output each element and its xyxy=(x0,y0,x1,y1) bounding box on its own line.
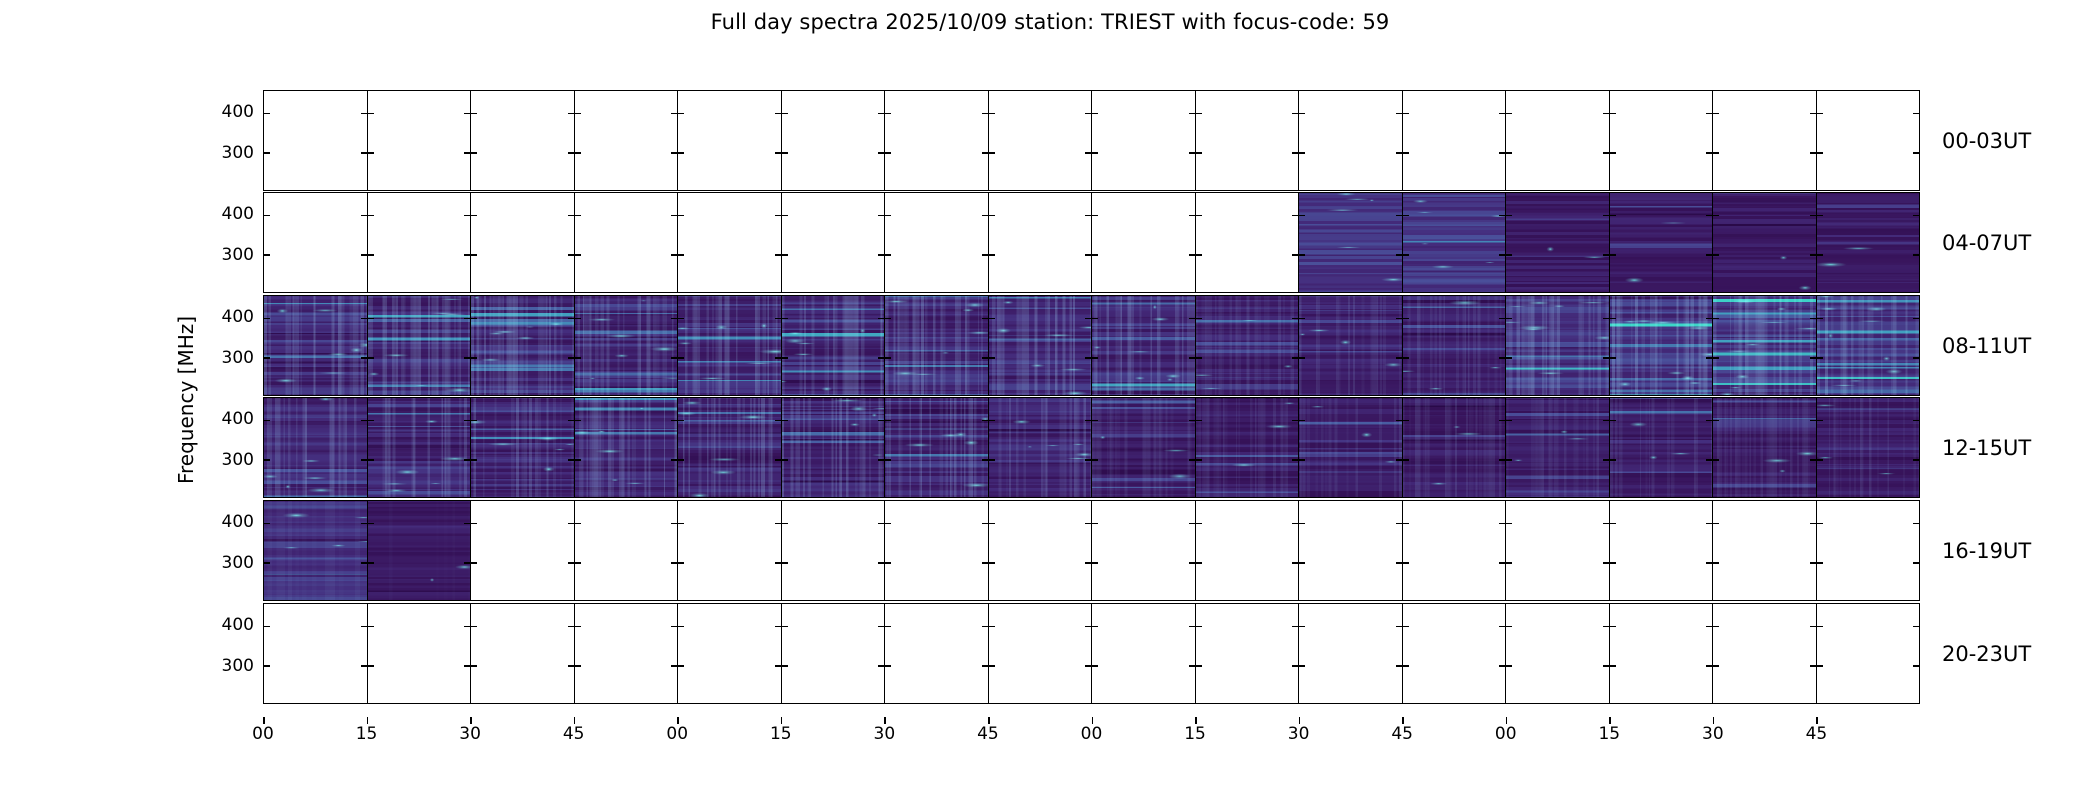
y-tick-mark xyxy=(989,152,995,154)
y-tick-mark xyxy=(1913,626,1919,628)
y-tick-mark xyxy=(1403,665,1409,667)
y-tick-mark xyxy=(1189,562,1195,564)
y-tick-mark xyxy=(982,523,988,525)
spectrogram-cell[interactable] xyxy=(1299,296,1403,395)
spectrogram-cell[interactable] xyxy=(1092,501,1196,600)
spectrogram-cell[interactable] xyxy=(1713,398,1817,497)
y-tick-mark xyxy=(568,523,574,525)
y-tick-mark xyxy=(1610,665,1616,667)
spectrogram-cell[interactable] xyxy=(264,193,368,292)
spectrogram-cell[interactable] xyxy=(1196,604,1300,703)
y-tick-mark xyxy=(1713,523,1719,525)
spectrogram-cell[interactable] xyxy=(1610,501,1714,600)
spectrogram-cell[interactable] xyxy=(1092,193,1196,292)
y-axis-label: Frequency [MHz] xyxy=(174,316,198,484)
spectrogram-cell[interactable] xyxy=(1403,296,1507,395)
y-tick-mark xyxy=(1499,254,1505,256)
row-panel-group xyxy=(263,295,1920,396)
y-tick-mark xyxy=(1085,665,1091,667)
y-tick-mark xyxy=(368,318,374,320)
y-tick-mark xyxy=(1092,665,1098,667)
y-tick-mark xyxy=(982,562,988,564)
y-tick-mark xyxy=(264,357,270,359)
spectrogram-cell[interactable] xyxy=(1299,91,1403,190)
spectrogram-cell[interactable] xyxy=(678,604,782,703)
y-tick-mark xyxy=(989,318,995,320)
spectrogram-cell[interactable] xyxy=(1817,604,1920,703)
spectrogram-cell[interactable] xyxy=(575,193,679,292)
y-tick-mark xyxy=(1603,626,1609,628)
spectrogram-cell[interactable] xyxy=(885,398,989,497)
spectrogram-cell-image xyxy=(885,296,988,395)
y-tick-mark xyxy=(782,215,788,217)
x-tick-label: 30 xyxy=(1702,724,1724,744)
y-tick-mark xyxy=(982,318,988,320)
x-tick-label: 30 xyxy=(874,724,896,744)
spectrogram-cell-image xyxy=(782,398,885,497)
y-tick-label: 300 xyxy=(222,143,254,163)
y-tick-mark xyxy=(775,318,781,320)
spectrogram-cell[interactable] xyxy=(1299,501,1403,600)
spectrogram-cell[interactable] xyxy=(1610,193,1714,292)
spectrogram-cell[interactable] xyxy=(1092,296,1196,395)
x-tick-mark xyxy=(574,717,576,724)
spectrogram-cell[interactable] xyxy=(782,296,886,395)
spectrogram-cell-image xyxy=(678,296,781,395)
y-tick-label: 400 xyxy=(222,102,254,122)
spectrogram-cell[interactable] xyxy=(368,296,472,395)
spectrogram-cell-image xyxy=(1403,193,1506,292)
row-time-label: 12-15UT xyxy=(1942,436,2031,460)
y-tick-mark xyxy=(678,523,684,525)
y-tick-mark xyxy=(1603,420,1609,422)
y-tick-mark xyxy=(775,357,781,359)
y-tick-mark xyxy=(1396,626,1402,628)
y-tick-mark xyxy=(989,626,995,628)
spectrogram-cell[interactable] xyxy=(1506,193,1610,292)
y-tick-mark xyxy=(1092,626,1098,628)
x-tick-mark xyxy=(677,717,679,724)
y-tick-mark xyxy=(1603,459,1609,461)
y-tick-mark xyxy=(1706,420,1712,422)
y-tick-mark xyxy=(782,113,788,115)
x-tick-mark xyxy=(781,717,783,724)
spectrogram-cell[interactable] xyxy=(1506,91,1610,190)
spectrogram-cell-image xyxy=(264,296,367,395)
y-tick-mark xyxy=(885,523,891,525)
y-tick-mark xyxy=(782,523,788,525)
row-panel-group xyxy=(263,603,1920,704)
y-tick-mark xyxy=(264,523,270,525)
y-tick-mark xyxy=(982,215,988,217)
y-tick-mark xyxy=(464,420,470,422)
y-tick-mark xyxy=(1299,523,1305,525)
y-tick-label-group: 400300 xyxy=(196,90,254,191)
spectrogram-cell[interactable] xyxy=(368,91,472,190)
spectrogram-cell[interactable] xyxy=(1092,91,1196,190)
spectrogram-cell[interactable] xyxy=(1713,193,1817,292)
y-tick-mark xyxy=(782,626,788,628)
y-tick-mark xyxy=(878,318,884,320)
y-tick-mark xyxy=(1506,665,1512,667)
y-tick-mark xyxy=(1913,152,1919,154)
x-tick-label: 45 xyxy=(563,724,585,744)
spectrogram-cell[interactable] xyxy=(885,296,989,395)
spectrogram-cell[interactable] xyxy=(1506,604,1610,703)
spectrogram-cell[interactable] xyxy=(989,501,1093,600)
y-tick-mark xyxy=(982,459,988,461)
spectrogram-cell[interactable] xyxy=(1713,91,1817,190)
y-tick-mark xyxy=(1196,357,1202,359)
spectrogram-cell[interactable] xyxy=(575,398,679,497)
y-tick-mark xyxy=(1292,523,1298,525)
spectrogram-cell-image xyxy=(1299,296,1402,395)
spectrogram-cell[interactable] xyxy=(368,398,472,497)
y-tick-mark xyxy=(1403,318,1409,320)
spectrogram-cell[interactable] xyxy=(575,604,679,703)
y-tick-mark xyxy=(1706,152,1712,154)
spectrogram-cell[interactable] xyxy=(1299,398,1403,497)
y-tick-mark xyxy=(264,215,270,217)
x-tick-mark xyxy=(1195,717,1197,724)
y-tick-mark xyxy=(568,420,574,422)
y-tick-mark xyxy=(678,562,684,564)
y-tick-mark xyxy=(678,626,684,628)
spectrogram-cell[interactable] xyxy=(471,193,575,292)
spectrogram-cell[interactable] xyxy=(1299,604,1403,703)
spectrogram-cell[interactable] xyxy=(1403,604,1507,703)
spectrogram-cell[interactable] xyxy=(678,398,782,497)
y-tick-mark xyxy=(1092,523,1098,525)
y-tick-mark xyxy=(678,665,684,667)
spectrogram-cell[interactable] xyxy=(1610,604,1714,703)
spectrogram-cell[interactable] xyxy=(1299,193,1403,292)
spectrogram-cell[interactable] xyxy=(368,604,472,703)
y-tick-mark xyxy=(1610,215,1616,217)
y-tick-mark xyxy=(1603,357,1609,359)
y-tick-mark xyxy=(1913,459,1919,461)
y-tick-mark xyxy=(1713,626,1719,628)
y-tick-mark xyxy=(1299,420,1305,422)
y-tick-mark xyxy=(1396,665,1402,667)
y-tick-mark xyxy=(575,523,581,525)
spectrogram-cell[interactable] xyxy=(885,501,989,600)
y-tick-mark xyxy=(878,562,884,564)
y-tick-mark xyxy=(982,626,988,628)
spectrogram-cell[interactable] xyxy=(1817,398,1920,497)
spectrogram-cell[interactable] xyxy=(1196,296,1300,395)
y-tick-mark xyxy=(878,357,884,359)
spectrogram-cell[interactable] xyxy=(264,296,368,395)
y-tick-label: 300 xyxy=(222,450,254,470)
y-tick-mark xyxy=(1913,113,1919,115)
spectrogram-cell-image xyxy=(678,398,781,497)
y-tick-mark xyxy=(671,215,677,217)
y-tick-mark xyxy=(885,113,891,115)
y-tick-mark xyxy=(671,523,677,525)
y-tick-mark xyxy=(471,215,477,217)
y-tick-mark xyxy=(1196,562,1202,564)
y-tick-mark xyxy=(1085,626,1091,628)
x-axis-ticks: 00153045001530450015304500153045 xyxy=(263,724,1920,754)
spectrogram-cell[interactable] xyxy=(1817,501,1920,600)
spectrogram-cell[interactable] xyxy=(782,193,886,292)
y-tick-mark xyxy=(1810,420,1816,422)
y-tick-mark xyxy=(575,420,581,422)
y-tick-mark xyxy=(1196,420,1202,422)
spectrogram-cell[interactable] xyxy=(368,501,472,600)
y-tick-mark xyxy=(1506,152,1512,154)
spectrogram-cell[interactable] xyxy=(264,501,368,600)
y-tick-mark xyxy=(1189,318,1195,320)
spectrogram-cell[interactable] xyxy=(678,501,782,600)
y-tick-mark xyxy=(568,626,574,628)
spectrogram-cell[interactable] xyxy=(471,501,575,600)
y-tick-mark xyxy=(885,357,891,359)
y-tick-mark xyxy=(1396,459,1402,461)
y-tick-mark xyxy=(1499,152,1505,154)
spectrogram-cell[interactable] xyxy=(575,91,679,190)
y-tick-mark xyxy=(1610,523,1616,525)
y-tick-label: 400 xyxy=(222,512,254,532)
y-tick-mark xyxy=(1396,420,1402,422)
y-tick-mark xyxy=(464,459,470,461)
y-tick-mark xyxy=(264,626,270,628)
y-tick-mark xyxy=(1706,215,1712,217)
y-tick-mark xyxy=(1085,420,1091,422)
y-tick-mark xyxy=(575,318,581,320)
y-tick-mark xyxy=(1499,523,1505,525)
spectrogram-cell[interactable] xyxy=(782,91,886,190)
y-tick-mark xyxy=(782,562,788,564)
spectrogram-cell[interactable] xyxy=(1196,193,1300,292)
y-tick-mark xyxy=(1396,215,1402,217)
y-tick-mark xyxy=(1292,665,1298,667)
figure-canvas: Full day spectra 2025/10/09 station: TRI… xyxy=(0,0,2100,800)
y-tick-label-group: 400300 xyxy=(196,500,254,601)
spectrogram-cell[interactable] xyxy=(1403,193,1507,292)
spectrogram-cell-image xyxy=(1610,296,1713,395)
y-tick-mark xyxy=(1299,626,1305,628)
spectrogram-cell[interactable] xyxy=(471,296,575,395)
y-tick-mark xyxy=(368,626,374,628)
spectrogram-cell[interactable] xyxy=(989,296,1093,395)
spectrogram-cell[interactable] xyxy=(989,398,1093,497)
x-tick-label: 00 xyxy=(1081,724,1103,744)
y-tick-mark xyxy=(678,357,684,359)
y-tick-mark xyxy=(1403,152,1409,154)
spectrogram-cell[interactable] xyxy=(1610,91,1714,190)
y-tick-label: 400 xyxy=(222,615,254,635)
spectrogram-cell-image xyxy=(1092,296,1195,395)
spectrogram-cell[interactable] xyxy=(1092,398,1196,497)
spectrogram-cell[interactable] xyxy=(1817,193,1920,292)
y-tick-mark xyxy=(471,459,477,461)
y-tick-mark xyxy=(1092,113,1098,115)
y-tick-mark xyxy=(1817,420,1823,422)
y-tick-mark xyxy=(782,357,788,359)
y-tick-mark xyxy=(264,318,270,320)
y-tick-mark xyxy=(1085,113,1091,115)
y-tick-mark xyxy=(1506,215,1512,217)
spectrogram-cell[interactable] xyxy=(1817,296,1920,395)
y-tick-mark xyxy=(1189,113,1195,115)
spectrogram-cell[interactable] xyxy=(782,501,886,600)
spectrogram-cell[interactable] xyxy=(1403,91,1507,190)
y-tick-mark xyxy=(878,113,884,115)
y-tick-mark xyxy=(1085,562,1091,564)
spectrogram-cell[interactable] xyxy=(264,398,368,497)
y-tick-mark xyxy=(1092,459,1098,461)
spectrogram-cell[interactable] xyxy=(1506,501,1610,600)
y-tick-mark xyxy=(568,459,574,461)
y-tick-mark xyxy=(885,459,891,461)
spectrogram-cell[interactable] xyxy=(1610,398,1714,497)
y-tick-label: 300 xyxy=(222,245,254,265)
y-tick-mark xyxy=(1403,357,1409,359)
y-tick-mark xyxy=(671,254,677,256)
y-tick-mark xyxy=(368,152,374,154)
spectrogram-cell[interactable] xyxy=(575,296,679,395)
spectrogram-cell[interactable] xyxy=(1610,296,1714,395)
y-tick-mark xyxy=(568,357,574,359)
y-tick-mark xyxy=(1610,357,1616,359)
y-tick-mark xyxy=(1610,318,1616,320)
spectrogram-cell[interactable] xyxy=(575,501,679,600)
y-tick-mark xyxy=(361,562,367,564)
spectrogram-cell[interactable] xyxy=(1196,398,1300,497)
y-tick-mark xyxy=(1506,626,1512,628)
y-tick-mark xyxy=(1610,420,1616,422)
spectrogram-cell[interactable] xyxy=(989,193,1093,292)
y-tick-mark xyxy=(1810,357,1816,359)
spectrogram-cell[interactable] xyxy=(782,604,886,703)
spectrogram-cell-image xyxy=(1506,398,1609,497)
x-tick-label: 30 xyxy=(459,724,481,744)
y-tick-mark xyxy=(678,215,684,217)
y-tick-mark xyxy=(989,420,995,422)
spectrogram-cell[interactable] xyxy=(678,193,782,292)
row-time-label: 00-03UT xyxy=(1942,129,2031,153)
y-tick-mark xyxy=(471,113,477,115)
spectrogram-cell[interactable] xyxy=(678,91,782,190)
x-tick-label: 15 xyxy=(356,724,378,744)
spectrogram-cell[interactable] xyxy=(885,193,989,292)
y-tick-mark xyxy=(1092,254,1098,256)
y-tick-mark xyxy=(1092,215,1098,217)
y-tick-mark xyxy=(1403,459,1409,461)
y-tick-mark xyxy=(1196,318,1202,320)
spectrogram-cell[interactable] xyxy=(1817,91,1920,190)
y-tick-mark xyxy=(1713,113,1719,115)
y-tick-mark xyxy=(568,215,574,217)
x-tick-mark xyxy=(1506,717,1508,724)
y-tick-mark xyxy=(464,665,470,667)
x-tick-label: 45 xyxy=(977,724,999,744)
y-tick-mark xyxy=(1092,562,1098,564)
spectrogram-cell[interactable] xyxy=(368,193,472,292)
y-tick-mark xyxy=(1196,626,1202,628)
y-tick-mark xyxy=(368,357,374,359)
y-tick-mark xyxy=(671,459,677,461)
y-tick-mark xyxy=(471,420,477,422)
y-tick-mark xyxy=(368,113,374,115)
spectrogram-cell[interactable] xyxy=(471,91,575,190)
y-tick-mark xyxy=(1299,152,1305,154)
spectrogram-row xyxy=(263,397,1920,498)
spectrogram-cell[interactable] xyxy=(1506,296,1610,395)
spectrogram-cell[interactable] xyxy=(264,91,368,190)
spectrogram-cell[interactable] xyxy=(989,91,1093,190)
y-tick-mark xyxy=(775,215,781,217)
y-tick-mark xyxy=(1396,113,1402,115)
y-tick-mark xyxy=(1292,318,1298,320)
y-tick-label: 400 xyxy=(222,409,254,429)
spectrogram-cell[interactable] xyxy=(1713,296,1817,395)
y-tick-label-group: 400300 xyxy=(196,397,254,498)
spectrogram-cell[interactable] xyxy=(264,604,368,703)
y-tick-mark xyxy=(1499,318,1505,320)
spectrogram-cell-image xyxy=(1299,398,1402,497)
y-tick-mark xyxy=(1085,523,1091,525)
y-tick-mark xyxy=(568,113,574,115)
y-tick-mark xyxy=(471,626,477,628)
spectrogram-cell[interactable] xyxy=(885,91,989,190)
y-tick-mark xyxy=(1506,318,1512,320)
spectrogram-cell[interactable] xyxy=(885,604,989,703)
row-time-label: 20-23UT xyxy=(1942,642,2031,666)
y-tick-mark xyxy=(1706,562,1712,564)
y-tick-mark xyxy=(361,152,367,154)
spectrogram-cell[interactable] xyxy=(1713,501,1817,600)
spectrogram-cell[interactable] xyxy=(1403,501,1507,600)
y-tick-mark xyxy=(1713,665,1719,667)
spectrogram-cell[interactable] xyxy=(471,398,575,497)
y-tick-mark xyxy=(885,152,891,154)
spectrogram-cell[interactable] xyxy=(678,296,782,395)
y-tick-mark xyxy=(989,562,995,564)
x-tick-label: 00 xyxy=(252,724,274,744)
spectrogram-cell[interactable] xyxy=(471,604,575,703)
y-tick-mark xyxy=(368,665,374,667)
y-tick-mark xyxy=(1499,665,1505,667)
y-tick-mark xyxy=(1810,254,1816,256)
y-tick-mark xyxy=(1189,357,1195,359)
y-tick-mark xyxy=(989,357,995,359)
y-tick-mark xyxy=(1396,523,1402,525)
spectrogram-cell[interactable] xyxy=(1196,91,1300,190)
y-tick-mark xyxy=(1189,420,1195,422)
y-tick-mark xyxy=(989,665,995,667)
spectrogram-cell[interactable] xyxy=(782,398,886,497)
y-tick-mark xyxy=(775,626,781,628)
y-tick-mark xyxy=(1713,357,1719,359)
spectrogram-cell[interactable] xyxy=(1506,398,1610,497)
spectrogram-cell[interactable] xyxy=(1713,604,1817,703)
spectrogram-cell[interactable] xyxy=(989,604,1093,703)
y-tick-mark xyxy=(575,152,581,154)
spectrogram-cell-image xyxy=(1196,398,1299,497)
spectrogram-cell[interactable] xyxy=(1092,604,1196,703)
y-tick-mark xyxy=(471,562,477,564)
spectrogram-cell[interactable] xyxy=(1196,501,1300,600)
y-tick-mark xyxy=(1810,215,1816,217)
y-tick-mark xyxy=(1817,523,1823,525)
y-tick-mark xyxy=(1506,523,1512,525)
y-tick-mark xyxy=(989,459,995,461)
x-tick-label: 00 xyxy=(1495,724,1517,744)
spectrogram-cell[interactable] xyxy=(1403,398,1507,497)
